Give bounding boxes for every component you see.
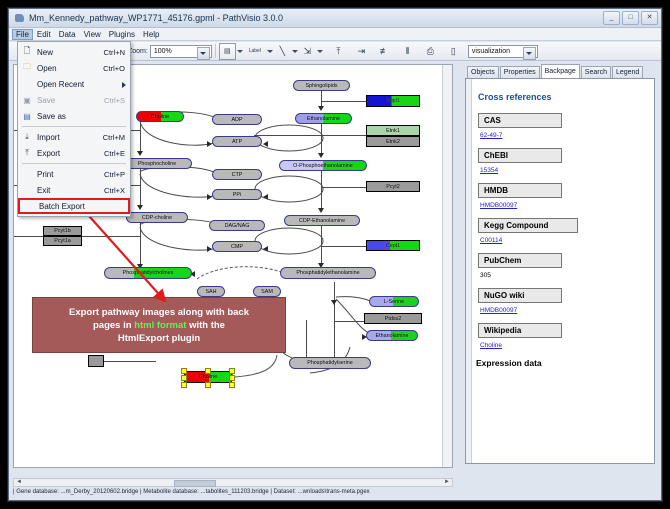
menu-item-shortcut: Ctrl+S <box>104 96 130 105</box>
align-left-icon[interactable]: ⇥ <box>353 43 370 60</box>
visualization-combo[interactable]: visualization <box>468 45 538 58</box>
node-ptdss2[interactable]: Ptdss2 <box>364 313 422 324</box>
blank-icon <box>22 199 36 213</box>
arrow-icon <box>318 106 324 111</box>
xref-db-nugo-wiki: NuGO wiki <box>478 288 562 303</box>
open-folder-icon: 🗀 <box>20 61 34 75</box>
menu-item-label: Batch Export <box>39 202 128 211</box>
xref-value-cas[interactable]: 62-49-7 <box>480 132 644 139</box>
blank-icon <box>20 183 34 197</box>
import-icon: ⤓ <box>20 130 34 144</box>
xref-db-hmdb: HMDB <box>478 183 562 198</box>
tab-search[interactable]: Search <box>581 66 611 78</box>
menu-item-shortcut: Ctrl+P <box>104 170 130 179</box>
menu-data[interactable]: Data <box>55 29 80 40</box>
node-phosphocholine[interactable]: Phosphocholine <box>122 158 192 169</box>
menu-item-label: Save as <box>37 112 125 121</box>
node-sah[interactable]: SAH <box>197 286 225 297</box>
scrollbar-thumb[interactable] <box>174 480 216 487</box>
node-phosphatidylserine[interactable]: Phosphatidylserine <box>289 357 371 369</box>
annotation-line1: Export pathway images along with back <box>69 307 249 318</box>
zoom-combo[interactable]: 100% <box>150 45 212 58</box>
node-label: Ethanolamine <box>307 116 340 122</box>
selection-handle[interactable] <box>229 368 235 374</box>
node-label: Choline <box>151 114 169 120</box>
cofactor-loop <box>254 124 324 154</box>
save-disk-icon: ▣ <box>20 93 34 107</box>
blank-icon <box>20 77 34 91</box>
connector <box>321 135 366 136</box>
xref-db-kegg-compound: Kegg Compound <box>478 218 578 233</box>
decarboxylase-node[interactable] <box>88 355 104 367</box>
scroll-right-icon[interactable]: ► <box>444 479 450 486</box>
blank-icon <box>20 167 34 181</box>
node-pcyt2[interactable]: Pcyt2 <box>366 181 420 192</box>
menu-item-open[interactable]: 🗀 Open Ctrl+O <box>18 60 130 76</box>
arrow-icon <box>318 208 324 213</box>
node-label: ADP <box>231 117 242 123</box>
datanode-icon[interactable]: ▤ <box>219 43 236 60</box>
tab-objects[interactable]: Objects <box>467 66 499 78</box>
node-cmp[interactable]: CMP <box>212 241 262 252</box>
node-label: ATP <box>232 139 242 145</box>
label-icon[interactable]: Label <box>244 43 266 60</box>
node-label: Phosphocholine <box>138 161 176 167</box>
menu-item-save[interactable]: ▣ Save Ctrl+S <box>18 92 130 108</box>
menu-item-shortcut: Ctrl+O <box>103 64 130 73</box>
node-ppi[interactable]: PPi <box>212 189 262 200</box>
node-pcyt1b[interactable]: Pcyt1b <box>43 226 82 236</box>
node-atp[interactable]: ATP <box>212 136 262 147</box>
menu-view[interactable]: View <box>80 29 105 40</box>
export-icon: ⤒ <box>20 146 34 160</box>
interaction-dropdown-icon[interactable] <box>316 44 324 59</box>
menu-item-exit[interactable]: Exit Ctrl+X <box>18 182 130 198</box>
datanode-dropdown-icon[interactable] <box>236 44 244 59</box>
annotation-line2-a: pages in <box>93 320 134 331</box>
xref-db-wikipedia: Wikipedia <box>478 323 562 338</box>
node-label: Phosphatidylethanolamine <box>296 270 359 276</box>
line-dropdown-icon[interactable] <box>291 44 299 59</box>
node-l-serine[interactable]: L-Serine <box>369 296 419 307</box>
menu-bar: File Edit Data View Plugins Help <box>9 28 661 41</box>
menu-item-label: New <box>37 48 104 57</box>
node-label: Ptdss2 <box>385 316 401 322</box>
node-label: DAG/NAG <box>225 223 250 229</box>
node-sphingolipids[interactable]: Sphingolipids <box>293 80 350 91</box>
menu-item-label: Export <box>37 149 104 158</box>
distribute-vertical-icon[interactable]: ≢ <box>376 43 393 60</box>
minimize-button[interactable]: _ <box>603 11 620 25</box>
node-label: Cept1 <box>386 243 400 249</box>
annotation-line3: HtmlExport plugin <box>118 333 200 344</box>
node-label: Pcyt2 <box>386 184 399 190</box>
chevron-down-icon[interactable] <box>197 47 210 60</box>
window-controls: _ □ ✕ <box>603 11 661 25</box>
xref-db-chebi: ChEBI <box>478 148 562 163</box>
status-text: | Gene database: ...m_Derby_20120602.bri… <box>13 488 657 496</box>
selection-handle[interactable] <box>205 382 211 388</box>
annotation-text: Export pathway images along with back pa… <box>63 306 255 345</box>
node-ethanolamine-bottom[interactable]: Ethanolamine <box>366 330 418 341</box>
menu-item-batch-export[interactable]: Batch Export <box>18 198 130 214</box>
annotation-highlight: html format <box>134 320 186 331</box>
chevron-down-icon[interactable] <box>523 47 536 60</box>
xref-value-hmdb[interactable]: HMDB00097 <box>480 202 644 209</box>
title-bar: Mm_Kennedy_pathway_WP1771_45176.gpml - P… <box>9 9 661 28</box>
backpage-content[interactable]: Cross references CAS 62-49-7 ChEBI 15354… <box>465 78 655 464</box>
menu-item-label: Import <box>37 133 103 142</box>
menu-item-label: Open Recent <box>37 80 130 89</box>
node-label: SAH <box>205 289 216 295</box>
connector <box>321 187 366 188</box>
cross-references-heading: Cross references <box>478 92 644 102</box>
side-panel-tabs: Objects Properties Backpage Search Legen… <box>467 64 644 78</box>
node-label: Sgpl1 <box>386 98 400 104</box>
connector <box>104 361 156 362</box>
menu-item-shortcut: Ctrl+N <box>104 48 130 57</box>
tab-properties[interactable]: Properties <box>500 66 540 78</box>
node-choline[interactable]: Choline <box>136 111 184 122</box>
node-label: Pcyt1a <box>54 238 70 244</box>
node-label: PPi <box>233 192 241 198</box>
connector <box>14 236 43 237</box>
app-icon <box>14 12 26 24</box>
xref-value-kegg-compound[interactable]: C00114 <box>480 237 644 244</box>
node-label: CTP <box>232 172 243 178</box>
menu-file[interactable]: File <box>12 29 33 40</box>
node-label: Pcyt1b <box>54 228 70 234</box>
close-button[interactable]: ✕ <box>641 11 658 25</box>
xref-value-wikipedia[interactable]: Choline <box>480 342 644 349</box>
connector <box>321 246 366 247</box>
node-label: Ethanolamine <box>376 333 409 339</box>
node-cept1[interactable]: Cept1 <box>366 240 420 251</box>
node-label: Etnk2 <box>386 139 400 145</box>
node-o-phosphoethanolamine[interactable]: O-Phosphoethanolamine <box>279 160 367 171</box>
selection-handle[interactable] <box>205 368 211 374</box>
node-label: Sphingolipids <box>305 83 337 89</box>
menu-item-export[interactable]: ⤒ Export Ctrl+E <box>18 145 130 161</box>
selection-handle[interactable] <box>181 382 187 388</box>
node-label: Etnk1 <box>386 128 400 134</box>
menu-item-print[interactable]: Print Ctrl+P <box>18 166 130 182</box>
xref-value-pubchem: 305 <box>480 272 644 279</box>
selection-handle[interactable] <box>229 375 235 381</box>
label-dropdown-icon[interactable] <box>266 44 274 59</box>
menu-item-import[interactable]: ⤓ Import Ctrl+M <box>18 129 130 145</box>
xref-value-chebi[interactable]: 15354 <box>480 167 644 174</box>
node-sgpl1[interactable]: Sgpl1 <box>366 95 420 107</box>
menu-help[interactable]: Help <box>139 29 163 40</box>
stack-icon[interactable]: ▯ <box>445 43 462 60</box>
interaction-icon[interactable]: ⇲ <box>299 43 316 60</box>
toolbar-separator <box>215 44 216 58</box>
xref-db-pubchem: PubChem <box>478 253 562 268</box>
status-bar: ◄ ► | Gene database: ...m_Derby_20120602… <box>13 478 657 496</box>
node-label: L-Serine <box>384 299 404 305</box>
node-phosphatidylcholines[interactable]: Phosphatidylcholines <box>104 267 192 279</box>
scroll-left-icon[interactable]: ◄ <box>16 479 22 486</box>
menu-plugins[interactable]: Plugins <box>105 29 139 40</box>
node-label: CMP <box>231 244 243 250</box>
node-adp[interactable]: ADP <box>212 114 262 125</box>
tab-backpage[interactable]: Backpage <box>541 64 580 78</box>
print-icon[interactable]: ⎙ <box>422 43 439 60</box>
menu-edit[interactable]: Edit <box>33 29 55 40</box>
node-cdp-choline[interactable]: CDP-choline <box>126 212 188 223</box>
connector <box>321 101 366 102</box>
save-as-icon: ▤ <box>20 109 34 123</box>
file-menu-dropdown[interactable]: 🗋 New Ctrl+N 🗀 Open Ctrl+O Open Recent ▣… <box>17 41 131 217</box>
node-label: O-Phosphoethanolamine <box>293 163 353 169</box>
menu-item-label: Print <box>37 170 104 179</box>
expression-data-heading: Expression data <box>476 358 644 368</box>
menu-item-save-as[interactable]: ▤ Save as <box>18 108 130 124</box>
selection-handle[interactable] <box>181 375 187 381</box>
menu-item-open-recent[interactable]: Open Recent <box>18 76 130 92</box>
menu-item-shortcut: Ctrl+E <box>104 149 130 158</box>
node-label: Choline <box>199 374 217 380</box>
backpage-inner: Cross references CAS 62-49-7 ChEBI 15354… <box>472 79 644 368</box>
canvas-horizontal-scrollbar[interactable]: ◄ ► <box>13 478 453 487</box>
node-label: Phosphatidylcholines <box>123 270 174 276</box>
menu-item-label: Save <box>37 96 104 105</box>
menu-item-label: Exit <box>37 186 104 195</box>
annotation-line2-b: with the <box>186 320 225 331</box>
visualization-value: visualization <box>472 48 510 55</box>
submenu-arrow-icon <box>122 82 126 88</box>
menu-item-label: Open <box>37 64 103 73</box>
menu-item-shortcut: Ctrl+X <box>104 186 130 195</box>
zoom-value: 100% <box>154 48 172 55</box>
node-ethanolamine-top[interactable]: Ethanolamine <box>295 113 352 124</box>
menu-separator <box>22 126 126 127</box>
node-label: CDP-Ethanolamine <box>299 218 345 224</box>
screenshot-frame: Mm_Kennedy_pathway_WP1771_45176.gpml - P… <box>0 0 670 509</box>
node-label: SAM <box>261 289 273 295</box>
line-icon[interactable]: ╲ <box>274 43 291 60</box>
distribute-horizontal-icon[interactable]: ⫴ <box>399 43 416 60</box>
maximize-button[interactable]: □ <box>622 11 639 25</box>
cofactor-loop <box>254 175 324 205</box>
window-title: Mm_Kennedy_pathway_WP1771_45176.gpml - P… <box>29 13 283 23</box>
node-pcyt1a[interactable]: Pcyt1a <box>43 236 82 246</box>
node-cdp-ethanolamine[interactable]: CDP-Ethanolamine <box>284 215 360 226</box>
menu-item-new[interactable]: 🗋 New Ctrl+N <box>18 44 130 60</box>
node-dag-nag[interactable]: DAG/NAG <box>209 220 265 231</box>
selection-handle[interactable] <box>229 382 235 388</box>
pathvisio-window: Mm_Kennedy_pathway_WP1771_45176.gpml - P… <box>8 8 662 501</box>
node-etnk2[interactable]: Etnk2 <box>366 136 420 147</box>
node-label: CDP-choline <box>142 215 172 221</box>
node-label: Phosphatidylserine <box>307 360 353 366</box>
tab-legend[interactable]: Legend <box>612 66 643 78</box>
cofactor-loop <box>254 227 324 257</box>
menu-item-shortcut: Ctrl+M <box>103 133 130 142</box>
node-phosphatidylethanolamine[interactable]: Phosphatidylethanolamine <box>280 267 376 279</box>
node-ctp[interactable]: CTP <box>212 169 262 180</box>
side-panel: Objects Properties Backpage Search Legen… <box>461 64 659 468</box>
xref-value-nugo-wiki[interactable]: HMDB00097 <box>480 307 644 314</box>
node-etnk1[interactable]: Etnk1 <box>366 125 420 136</box>
selection-handle[interactable] <box>181 368 187 374</box>
annotation-callout: Export pathway images along with back pa… <box>32 297 286 353</box>
menu-separator <box>22 163 126 164</box>
canvas-vertical-scrollbar[interactable] <box>442 65 452 467</box>
align-top-icon[interactable]: ⤒ <box>330 43 347 60</box>
xref-db-cas: CAS <box>478 113 562 128</box>
connector <box>82 236 140 237</box>
cofactor-loop <box>134 164 224 208</box>
node-sam[interactable]: SAM <box>253 286 281 297</box>
new-document-icon: 🗋 <box>20 45 34 59</box>
